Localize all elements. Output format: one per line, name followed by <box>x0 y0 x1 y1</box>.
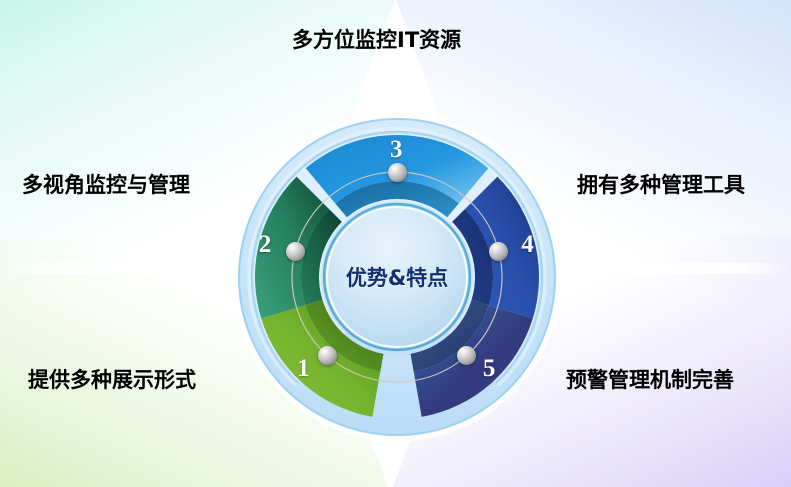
outer-label-right-top: 拥有多种管理工具 <box>577 169 745 199</box>
outer-label-right-bottom: 预警管理机制完善 <box>566 364 734 394</box>
radial-wheel: 1 2 3 4 5 优势&特点 <box>232 112 562 442</box>
outer-label-left-top: 多视角监控与管理 <box>22 169 190 199</box>
outer-label-top: 多方位监控IT资源 <box>292 24 461 54</box>
center-title: 优势&特点 <box>346 262 448 292</box>
center-hub: 优势&特点 <box>326 206 468 348</box>
diagram-canvas: 1 2 3 4 5 优势&特点 多方位监控IT资源 多视角监控与管理 拥有多种管… <box>0 0 791 487</box>
outer-label-left-bottom: 提供多种展示形式 <box>28 364 196 394</box>
